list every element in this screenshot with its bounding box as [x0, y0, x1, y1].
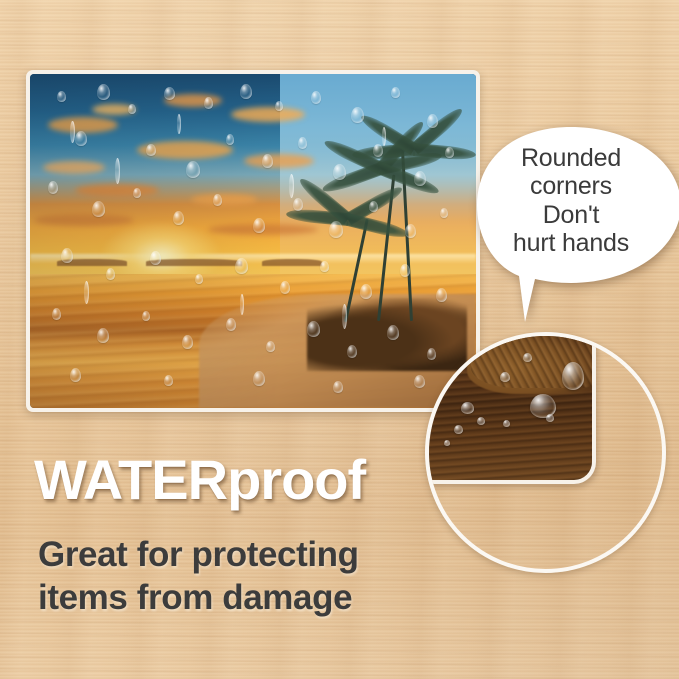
product-feature-graphic: Rounded corners Don't hurt hands WATERpr… [0, 0, 679, 679]
subheadline-line-1: Great for protecting [38, 533, 359, 576]
water-droplet [293, 198, 303, 211]
water-droplet [253, 371, 265, 386]
water-droplet [182, 335, 193, 349]
water-droplet [311, 91, 321, 104]
water-droplet [204, 97, 213, 109]
water-droplet [164, 87, 175, 100]
water-droplet [146, 144, 156, 156]
water-droplet [369, 201, 378, 212]
water-droplet [226, 134, 234, 145]
water-droplet [133, 188, 141, 198]
photo-glare-shade [30, 74, 280, 408]
water-droplet [307, 321, 320, 337]
headline-light: proof [227, 448, 365, 511]
water-droplet [48, 181, 58, 194]
photo-print-frame [26, 70, 480, 412]
zoomed-water-droplet [461, 402, 474, 414]
water-droplet [226, 318, 236, 331]
water-droplet [262, 154, 273, 168]
subheadline: Great for protecting items from damage [38, 533, 359, 620]
palm-frond [347, 213, 410, 241]
zoomed-water-droplet [500, 372, 510, 382]
zoomed-water-droplet [477, 417, 485, 425]
water-droplet [142, 311, 150, 321]
headline-waterproof: WATERproof [34, 447, 365, 512]
water-droplet [235, 258, 248, 274]
water-droplet [329, 221, 343, 238]
water-droplet [61, 248, 73, 263]
water-droplet [70, 368, 81, 382]
water-droplet [436, 288, 447, 302]
water-droplet [97, 84, 110, 100]
water-droplet [213, 194, 222, 206]
speech-bubble-text: Rounded corners Don't hurt hands [472, 144, 670, 257]
water-droplet [75, 131, 87, 146]
water-droplet [173, 211, 184, 225]
water-droplet [445, 147, 454, 158]
magnifier-content [429, 336, 662, 569]
water-droplet [333, 164, 346, 180]
water-droplet [275, 101, 283, 111]
bubble-line-2: corners [472, 172, 670, 200]
palm-trunk [344, 219, 369, 322]
water-droplet [280, 281, 290, 294]
bubble-line-1: Rounded [472, 144, 670, 172]
zoomed-photo-surface [428, 336, 592, 480]
magnifier-zoom-circle [425, 332, 666, 573]
water-droplet [186, 161, 200, 178]
water-droplet [52, 308, 61, 320]
subheadline-line-2: items from damage [38, 576, 359, 619]
water-droplet [128, 104, 136, 114]
water-droplet [106, 268, 115, 280]
water-droplet [164, 375, 173, 386]
zoomed-water-droplet [444, 440, 450, 446]
bubble-line-3: Don't [472, 201, 670, 229]
water-droplet [150, 251, 161, 265]
water-droplet [414, 171, 426, 186]
water-droplet [387, 325, 399, 340]
bubble-line-4: hurt hands [472, 229, 670, 257]
water-droplet [298, 137, 307, 149]
water-droplet [427, 114, 438, 128]
headline-strong: WATER [34, 448, 227, 511]
water-droplet [347, 345, 357, 358]
speech-bubble-callout: Rounded corners Don't hurt hands [472, 122, 679, 327]
water-droplet [240, 84, 252, 99]
water-droplet [320, 261, 329, 272]
water-streak [289, 174, 294, 198]
water-droplet [405, 224, 416, 238]
zoomed-water-droplet [546, 414, 554, 422]
water-streak [84, 281, 89, 304]
water-droplet [351, 107, 364, 123]
water-droplet [57, 91, 66, 102]
zoomed-photo-corner [425, 332, 596, 484]
water-droplet [97, 328, 109, 343]
water-streak [240, 294, 244, 315]
water-droplet [414, 375, 425, 388]
photo-image [30, 74, 476, 408]
water-droplet [360, 284, 372, 299]
water-droplet [253, 218, 265, 233]
water-streak [115, 158, 120, 184]
